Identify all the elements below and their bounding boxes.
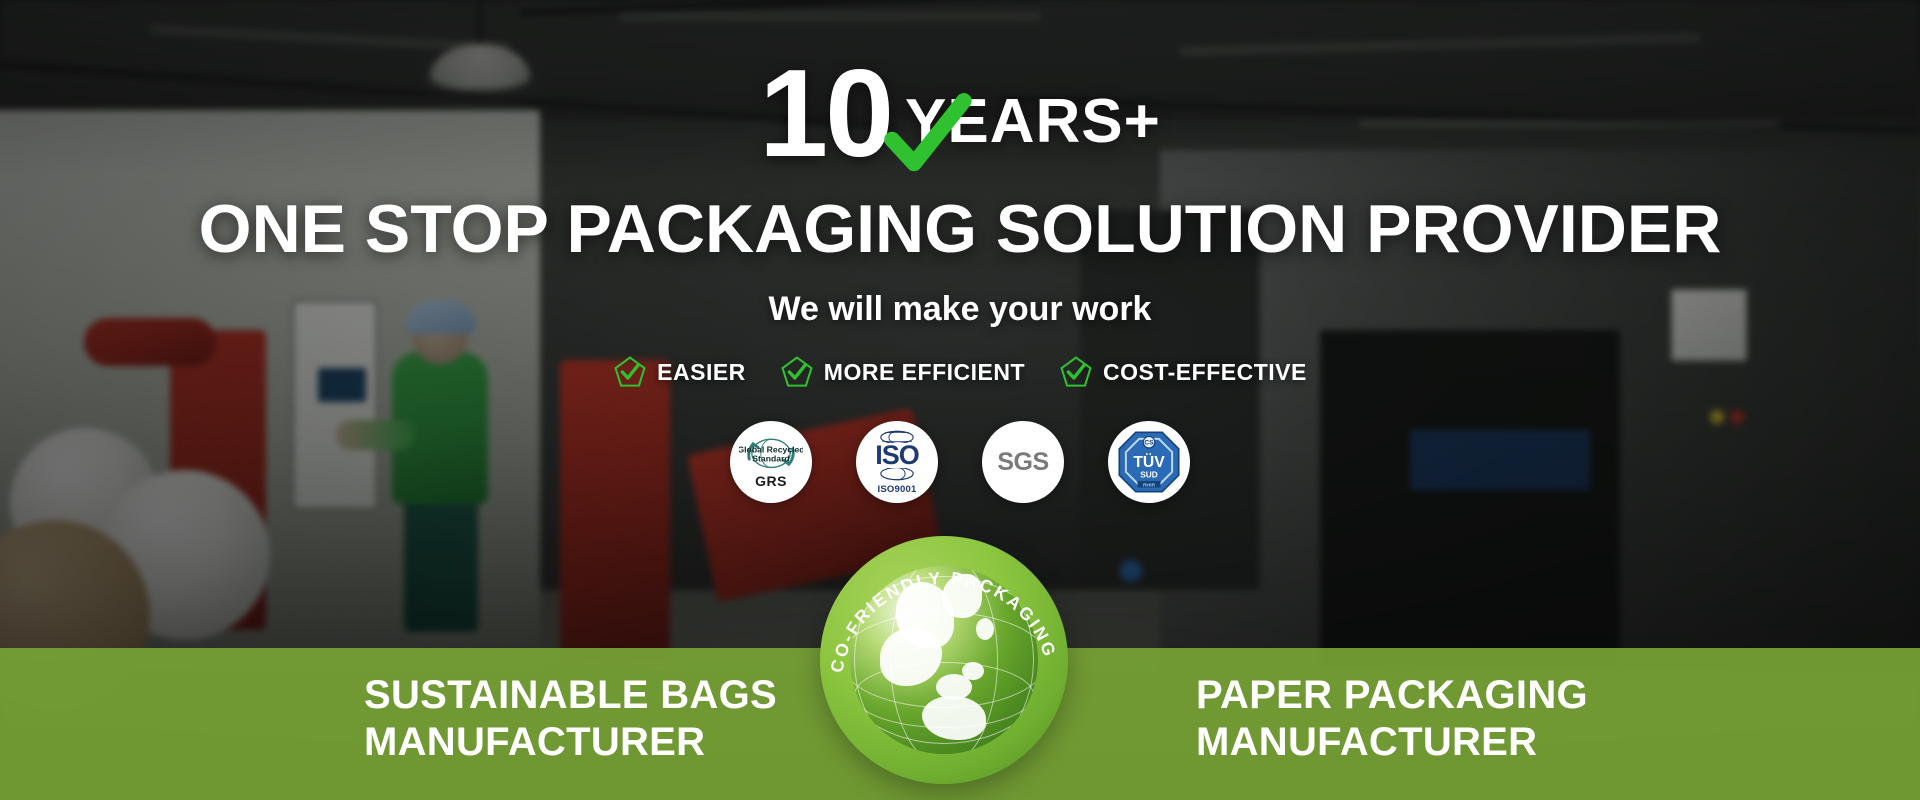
feature-item: COST-EFFECTIVE [1059, 355, 1307, 389]
tuv-octagon-icon: CS TÜV SUD RHIR [1116, 429, 1182, 495]
grs-badge: Global Recycled Standard GRS [730, 421, 812, 503]
feature-list: EASIER MORE EFFICIENT COST-EFFECTIVE [613, 355, 1307, 389]
recycle-globe-icon: Global Recycled Standard [739, 436, 803, 472]
globe-text-label: ECO-FRIENDLY PACKAGINGS [820, 536, 1061, 674]
bar-left-line-2: MANUFACTURER [364, 719, 777, 766]
bar-right-line-2: MANUFACTURER [1196, 719, 1588, 766]
feature-label: EASIER [657, 359, 746, 386]
years-badge: 10 YEARS+ [759, 52, 1161, 176]
tuv-footer: RHIR [1143, 482, 1156, 488]
certification-list: Global Recycled Standard GRS ISO [730, 421, 1190, 503]
years-word: YEARS+ [905, 91, 1161, 153]
globe-curved-text: ECO-FRIENDLY PACKAGINGS [820, 536, 1068, 784]
pentagon-check-icon [613, 355, 647, 389]
pentagon-check-icon [1059, 355, 1093, 389]
bar-left-line-1: SUSTAINABLE BAGS [364, 672, 777, 719]
tuv-sub: SUD [1140, 471, 1157, 480]
grs-abbr: GRS [755, 473, 787, 489]
iso-badge: ISO ISO9001 [856, 421, 938, 503]
feature-item: MORE EFFICIENT [780, 355, 1025, 389]
svg-text:CS: CS [1144, 440, 1154, 447]
iso-standard: ISO9001 [878, 484, 917, 495]
feature-item: EASIER [613, 355, 746, 389]
globe-wire-icon [870, 468, 924, 482]
grs-title-2: Standard [752, 453, 789, 463]
subheadline: We will make your work [769, 290, 1152, 329]
bar-right-line-1: PAPER PACKAGING [1196, 672, 1588, 719]
page-title: ONE STOP PACKAGING SOLUTION PROVIDER [199, 190, 1722, 268]
sustainable-bags-block: SUSTAINABLE BAGS MANUFACTURER [364, 672, 777, 766]
eco-globe-icon: ECO-FRIENDLY PACKAGINGS [820, 536, 1068, 784]
tuv-abbr: TÜV [1133, 452, 1165, 471]
iso-abbr: ISO [875, 443, 919, 467]
feature-label: MORE EFFICIENT [824, 359, 1025, 386]
hero-banner: 10 YEARS+ ONE STOP PACKAGING SOLUTION PR… [0, 0, 1920, 800]
sgs-badge: SGS [982, 421, 1064, 503]
years-number: 10 [759, 52, 891, 176]
paper-packaging-block: PAPER PACKAGING MANUFACTURER [1196, 672, 1588, 766]
feature-label: COST-EFFECTIVE [1103, 359, 1307, 386]
pentagon-check-icon [780, 355, 814, 389]
sgs-abbr: SGS [997, 448, 1048, 477]
tuv-badge: CS TÜV SUD RHIR [1108, 421, 1190, 503]
